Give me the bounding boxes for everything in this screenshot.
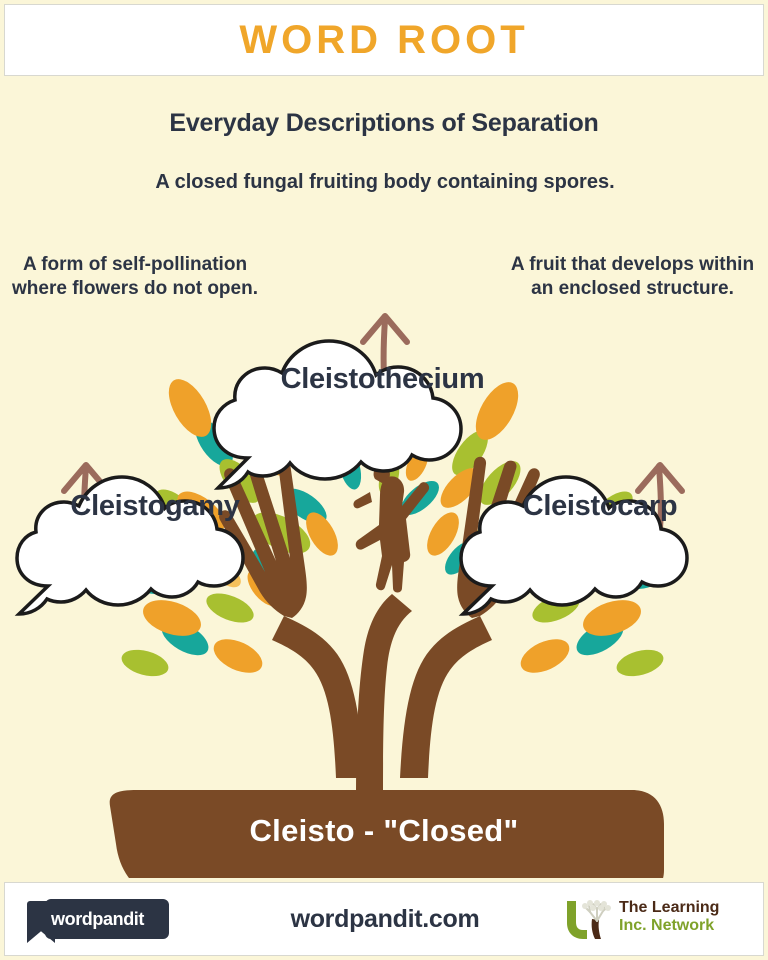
infographic-page: WORD ROOT — [0, 0, 768, 960]
jumping-girl-icon — [353, 466, 429, 593]
cloud-label-cleistothecium: Cleistothecium — [230, 363, 535, 396]
subtitle: Everyday Descriptions of Separation — [0, 107, 768, 139]
learning-network-logo[interactable]: The Learning Inc. Network — [557, 895, 747, 945]
footer-bar: wordpandit wordpandit.com — [4, 882, 764, 956]
description-right: A fruit that develops within an enclosed… — [500, 253, 765, 302]
header-bar: WORD ROOT — [4, 4, 764, 76]
cloud-label-cleistogamy: Cleistogamy — [20, 490, 290, 523]
learning-network-text: The Learning Inc. Network — [619, 899, 747, 936]
root-banner-text: Cleisto - "Closed" — [0, 813, 768, 849]
tree-illustration — [0, 78, 768, 878]
cloud-label-cleistocarp: Cleistocarp — [465, 490, 735, 523]
learning-network-line2: Inc. Network — [619, 917, 747, 935]
tree-u-icon — [557, 895, 617, 945]
description-left: A form of self-pollination where flowers… — [0, 253, 270, 302]
page-title: WORD ROOT — [239, 20, 528, 60]
learning-network-line1: The Learning — [619, 899, 747, 917]
description-center: A closed fungal fruiting body containing… — [150, 170, 620, 196]
